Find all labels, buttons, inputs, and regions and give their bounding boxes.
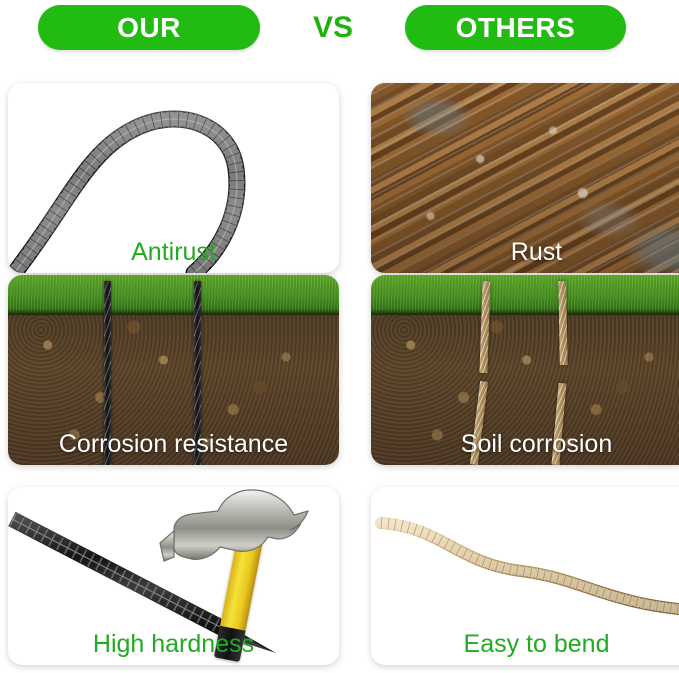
caption-wrap: Rust [371, 233, 679, 273]
card-caption: Soil corrosion [371, 429, 679, 459]
grass-layer [371, 275, 679, 315]
card-our-corrosion-resistance: Corrosion resistance [8, 275, 339, 465]
card-surface: Easy to bend [371, 487, 679, 665]
caption-wrap: Corrosion resistance [8, 425, 339, 465]
caption-wrap: Easy to bend [371, 625, 679, 665]
our-pill-label: OUR [117, 14, 181, 42]
card-others-rust: Rust [371, 83, 679, 273]
comparison-header: OUR VS OTHERS [0, 0, 679, 58]
card-caption: High hardness [8, 629, 339, 659]
card-others-soil-corrosion: Soil corrosion [371, 275, 679, 465]
caption-wrap: High hardness [8, 625, 339, 665]
card-surface: Soil corrosion [371, 275, 679, 465]
our-pill: OUR [38, 5, 260, 50]
others-pill: OTHERS [405, 5, 626, 50]
hammer-head [158, 487, 338, 601]
caption-wrap: Soil corrosion [371, 425, 679, 465]
card-surface: High hardness [8, 487, 339, 665]
card-surface: Rust [371, 83, 679, 273]
grass-layer [8, 275, 339, 315]
caption-wrap: Antirust [8, 233, 339, 273]
others-pill-label: OTHERS [456, 14, 576, 42]
card-caption: Antirust [8, 237, 339, 267]
card-caption: Easy to bend [371, 629, 679, 659]
vs-label: VS [298, 10, 368, 46]
comparison-grid: Antirust Rust Corrosion resistance [0, 58, 679, 673]
card-caption: Rust [371, 237, 679, 267]
card-surface: Corrosion resistance [8, 275, 339, 465]
card-our-high-hardness: High hardness [8, 487, 339, 665]
card-others-easy-to-bend: Easy to bend [371, 487, 679, 665]
card-our-antirust: Antirust [8, 83, 339, 273]
card-caption: Corrosion resistance [8, 429, 339, 459]
stake-rust-2-upper [558, 281, 567, 365]
card-surface: Antirust [8, 83, 339, 273]
